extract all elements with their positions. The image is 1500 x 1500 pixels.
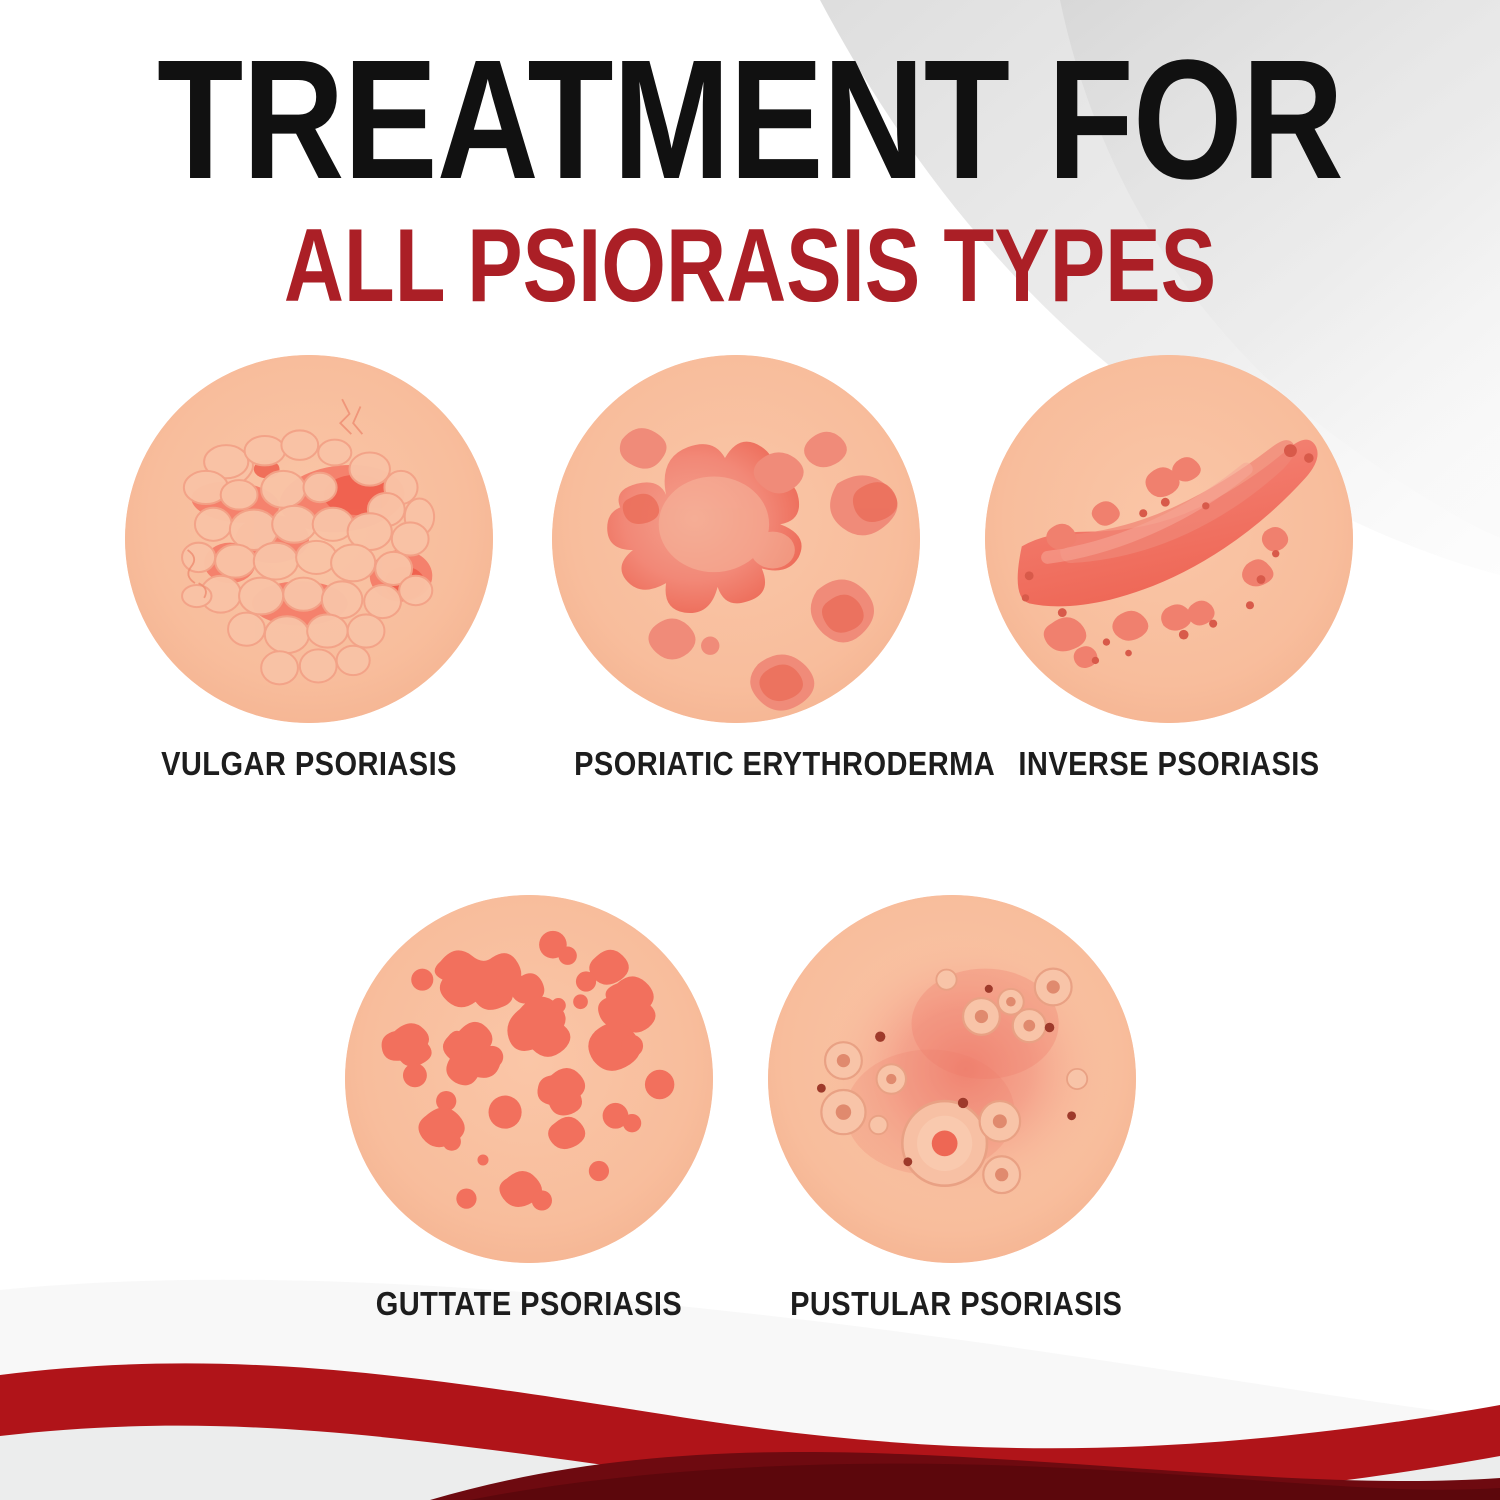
- lesion-illustration-guttate-psoriasis: [345, 895, 713, 1263]
- card-psoriatic-erythroderma[interactable]: PSORIATIC ERYTHRODERMA: [552, 355, 920, 723]
- lesion-illustration-inverse-psoriasis: [985, 355, 1353, 723]
- card-label-guttate-psoriasis: GUTTATE PSORIASIS: [367, 1285, 691, 1323]
- card-guttate-psoriasis[interactable]: GUTTATE PSORIASIS: [345, 895, 713, 1263]
- card-label-vulgar-psoriasis: VULGAR PSORIASIS: [147, 745, 471, 783]
- lesion-illustration-psoriatic-erythroderma: [552, 355, 920, 723]
- card-vulgar-psoriasis[interactable]: VULGAR PSORIASIS: [125, 355, 493, 723]
- lesion-illustration-vulgar-psoriasis: [125, 355, 493, 723]
- card-label-inverse-psoriasis: INVERSE PSORIASIS: [1007, 745, 1331, 783]
- lesion-illustration-pustular-psoriasis: [768, 895, 1136, 1263]
- psoriasis-type-grid: VULGAR PSORIASIS: [0, 0, 1500, 1500]
- card-label-pustular-psoriasis: PUSTULAR PSORIASIS: [790, 1285, 1114, 1323]
- card-inverse-psoriasis[interactable]: INVERSE PSORIASIS: [985, 355, 1353, 723]
- card-label-psoriatic-erythroderma: PSORIATIC ERYTHRODERMA: [574, 745, 898, 783]
- footer-wave-banner: [0, 1350, 1500, 1500]
- card-pustular-psoriasis[interactable]: PUSTULAR PSORIASIS: [768, 895, 1136, 1263]
